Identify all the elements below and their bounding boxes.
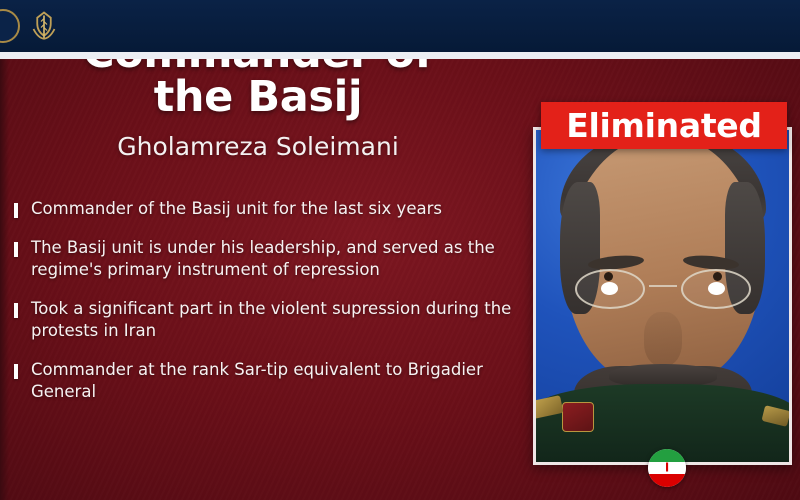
portrait-pupil-left [604, 272, 613, 281]
uniform-epaulette-left [536, 395, 564, 419]
left-edge-strip [0, 59, 9, 500]
flag-emblem-icon: ا [661, 462, 674, 475]
header-divider [0, 52, 800, 59]
portrait-photo [533, 127, 792, 465]
list-item-text: The Basij unit is under his leadership, … [31, 237, 514, 281]
uniform-insignia-icon [562, 402, 594, 432]
bullet-marker-icon [14, 242, 18, 257]
bullet-marker-icon [14, 303, 18, 318]
portrait-pupil-right [713, 272, 722, 281]
portrait-eye-left [601, 282, 618, 295]
glasses-bridge [649, 285, 677, 287]
bullet-list: Commander of the Basij unit for the last… [14, 198, 514, 420]
portrait-eye-right [708, 282, 725, 295]
list-item-text: Commander at the rank Sar-tip equivalent… [31, 359, 514, 403]
iran-flag-icon: ا [648, 449, 686, 487]
portrait-moustache [609, 364, 717, 386]
bullet-marker-icon [14, 364, 18, 379]
list-item-text: Commander of the Basij unit for the last… [31, 198, 442, 220]
list-item: Took a significant part in the violent s… [14, 298, 514, 342]
circular-badge-icon [0, 9, 20, 43]
slide-root: Commander of the Basij Gholamreza Soleim… [0, 0, 800, 500]
bullet-marker-icon [14, 203, 18, 218]
flag-band-red [648, 474, 686, 487]
portrait-nose [644, 312, 682, 366]
header-bar [0, 0, 800, 52]
portrait-image [536, 130, 789, 462]
idf-emblem-icon [26, 8, 62, 44]
page-subtitle: Gholamreza Soleimani [18, 133, 498, 161]
status-badge-label: Eliminated [566, 109, 761, 142]
logo-group [0, 6, 62, 46]
uniform-epaulette-right [761, 405, 789, 427]
page-title-line2: the Basij [18, 76, 498, 120]
portrait-glasses [557, 269, 769, 311]
list-item-text: Took a significant part in the violent s… [31, 298, 514, 342]
status-badge: Eliminated [541, 102, 787, 149]
list-item: Commander at the rank Sar-tip equivalent… [14, 359, 514, 403]
list-item: Commander of the Basij unit for the last… [14, 198, 514, 220]
list-item: The Basij unit is under his leadership, … [14, 237, 514, 281]
